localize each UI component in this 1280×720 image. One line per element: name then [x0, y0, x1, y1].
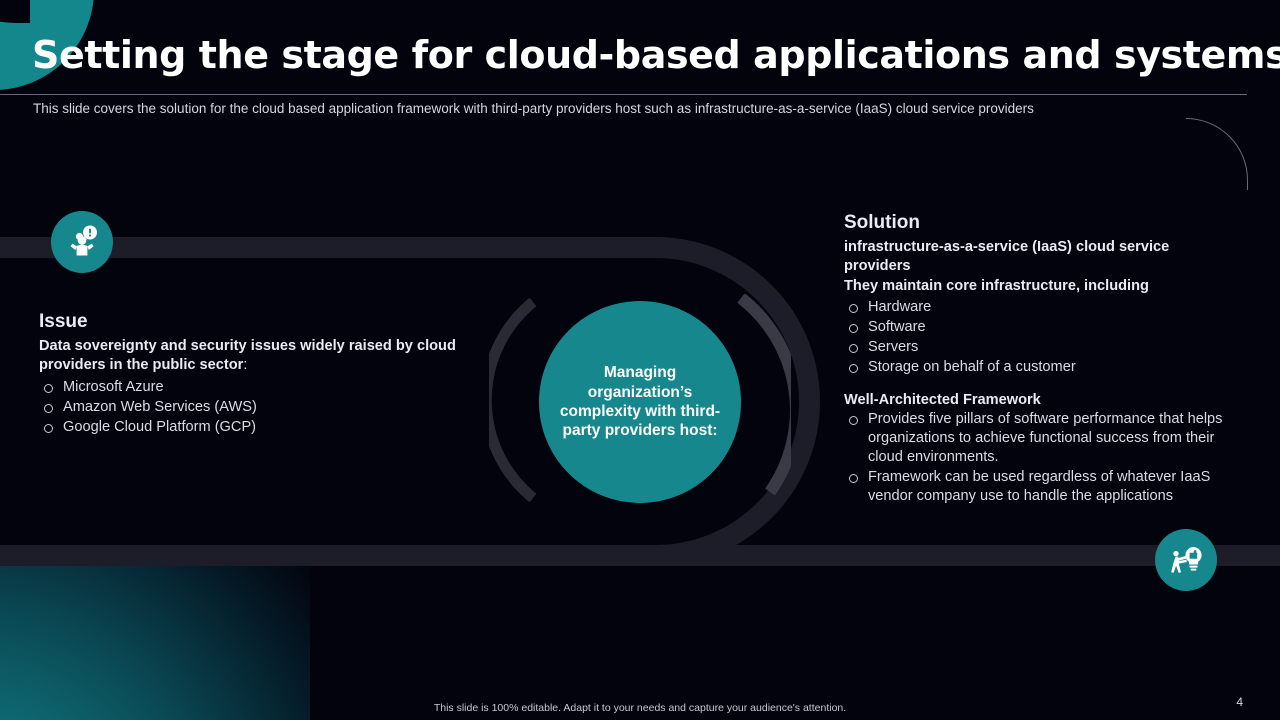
ring-bar-top-left — [0, 237, 240, 258]
page-title: Setting the stage for cloud-based applic… — [32, 36, 1280, 74]
issue-block: Issue Data sovereignty and security issu… — [39, 311, 479, 438]
teal-blob-cutout — [0, 0, 30, 23]
solution-icon-badge — [1155, 529, 1217, 591]
list-item: Amazon Web Services (AWS) — [39, 398, 479, 417]
solution-list: Hardware Software Servers Storage on beh… — [844, 298, 1224, 377]
page-subtitle: This slide covers the solution for the c… — [33, 101, 1034, 116]
list-item: Software — [844, 318, 1224, 337]
list-item: Hardware — [844, 298, 1224, 317]
list-item: Microsoft Azure — [39, 378, 479, 397]
title-divider-arc — [1186, 118, 1248, 190]
center-circle: Managing organization’s complexity with … — [539, 301, 741, 503]
block-spacer — [844, 378, 1224, 392]
teal-glow-bottom-left — [0, 410, 310, 720]
solution-heading: Solution — [844, 212, 1224, 234]
solution-sub-list: Provides five pillars of software perfor… — [844, 410, 1224, 506]
solution-sub-heading: Well-Architected Framework — [844, 392, 1224, 408]
issue-lead: Data sovereignty and security issues wid… — [39, 337, 479, 376]
page-number: 4 — [1236, 695, 1243, 709]
person-question-icon — [63, 223, 101, 261]
solution-lead-2: They maintain core infrastructure, inclu… — [844, 277, 1224, 296]
list-item: Storage on behalf of a customer — [844, 358, 1224, 377]
issue-list: Microsoft Azure Amazon Web Services (AWS… — [39, 378, 479, 438]
title-divider-line — [0, 94, 1247, 95]
solution-block: Solution infrastructure-as-a-service (Ia… — [844, 212, 1224, 506]
center-circle-text: Managing organization’s complexity with … — [539, 363, 741, 441]
list-item: Google Cloud Platform (GCP) — [39, 418, 479, 437]
issue-lead-bold: Data sovereignty and security issues wid… — [39, 338, 456, 373]
list-item: Servers — [844, 338, 1224, 357]
footer-note: This slide is 100% editable. Adapt it to… — [0, 702, 1280, 714]
issue-lead-tail: : — [243, 357, 247, 373]
list-item: Framework can be used regardless of what… — [844, 468, 1224, 506]
solution-lead-1: infrastructure-as-a-service (IaaS) cloud… — [844, 238, 1224, 277]
issue-icon-badge — [51, 211, 113, 273]
issue-heading: Issue — [39, 311, 479, 333]
list-item: Provides five pillars of software perfor… — [844, 410, 1224, 467]
person-lightbulb-idea-icon — [1166, 540, 1206, 580]
